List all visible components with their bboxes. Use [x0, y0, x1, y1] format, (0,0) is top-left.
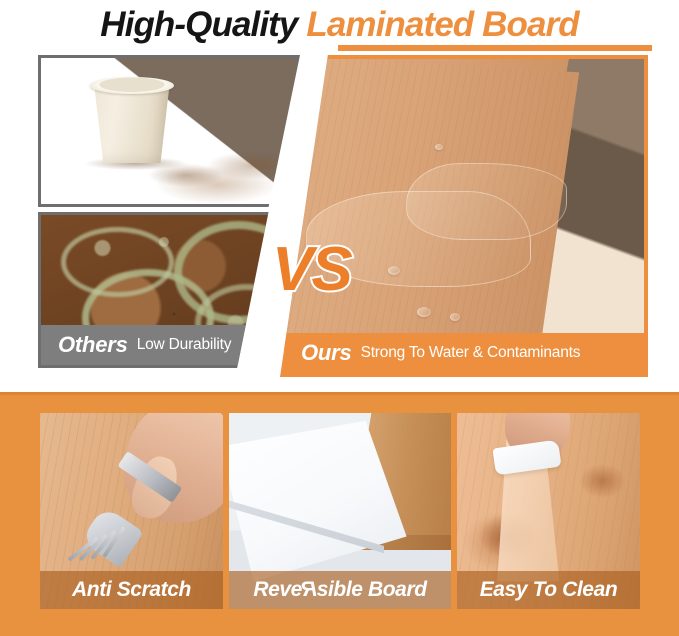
feature-caption-label: Anti Scratch [72, 578, 191, 602]
feature-reversible-board: ReveRsible Board [229, 413, 451, 609]
comparison-section: Others Low Durability [0, 53, 679, 375]
others-label-name: Others [58, 332, 128, 358]
ours-column: Ours Strong To Water & Contaminants [280, 55, 648, 377]
feature-anti-scratch: Anti Scratch [40, 413, 223, 609]
feature-easy-to-clean: Easy To Clean [457, 413, 640, 609]
others-column: Others Low Durability [38, 55, 300, 368]
liquid-puddle [138, 140, 297, 204]
water-bead [450, 313, 460, 321]
title-underline [338, 45, 652, 51]
reversed-r-glyph: R [302, 578, 317, 602]
poster: High-Quality Laminated Board [0, 0, 679, 636]
ours-label-name: Ours [301, 340, 352, 366]
water-spill-shape [406, 163, 566, 240]
liquid-stain [560, 452, 633, 515]
band-top-rule [0, 392, 679, 395]
feature-caption: Easy To Clean [457, 571, 640, 609]
water-bead [435, 144, 443, 150]
feature-caption-part-2: sible Board [317, 578, 427, 601]
feature-caption: Anti Scratch [40, 571, 223, 609]
feature-caption-part-1: Reve [253, 578, 302, 601]
others-panel-spill [38, 55, 300, 207]
features-row: Anti Scratch ReveRsible Board [40, 413, 640, 609]
page-title-accent: Laminated Board [306, 5, 578, 44]
features-band: Anti Scratch ReveRsible Board [0, 392, 679, 636]
ours-label-desc: Strong To Water & Contaminants [361, 344, 581, 362]
versus-badge: VS [272, 239, 351, 301]
feature-caption: ReveRsible Board [229, 571, 451, 609]
ours-panel-board: Ours Strong To Water & Contaminants [280, 55, 648, 377]
spilled-drink-image [41, 58, 297, 204]
others-label-desc: Low Durability [137, 336, 232, 354]
feature-caption-label: Easy To Clean [480, 578, 618, 602]
laminated-board-image [284, 59, 644, 373]
page-title-primary: High-Quality [100, 5, 297, 44]
others-label-bar: Others Low Durability [41, 325, 297, 365]
feature-caption-label: ReveRsible Board [253, 578, 426, 602]
ours-label-bar: Ours Strong To Water & Contaminants [284, 333, 644, 373]
others-panel-mold: Others Low Durability [38, 212, 300, 368]
